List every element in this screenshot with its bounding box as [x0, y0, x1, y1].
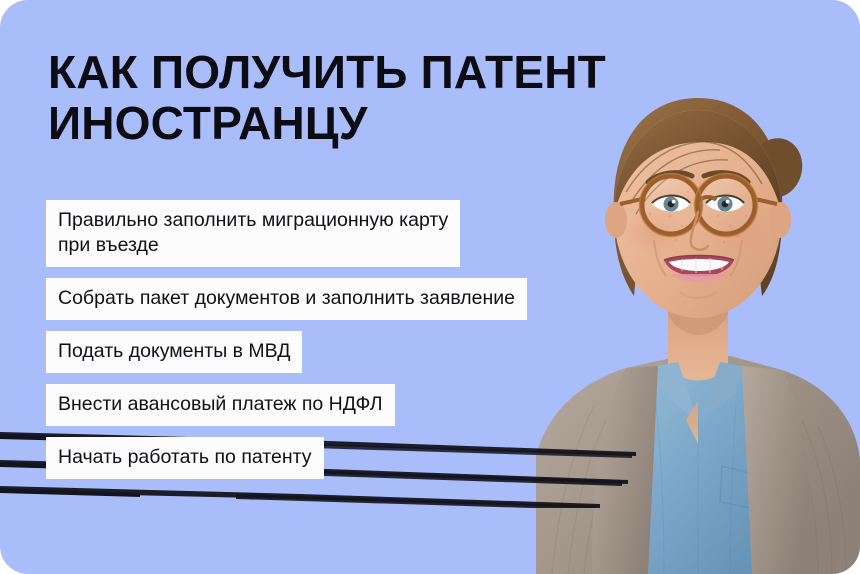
step-item-2: Собрать пакет документов и заполнить зая… — [46, 278, 527, 320]
step-item-1: Правильно заполнить миграционную карту п… — [46, 200, 460, 267]
poster-card: КАК ПОЛУЧИТЬ ПАТЕНТ ИНОСТРАНЦУ Правильно… — [0, 0, 860, 574]
steps-list: Правильно заполнить миграционную карту п… — [46, 200, 527, 479]
page-title: КАК ПОЛУЧИТЬ ПАТЕНТ ИНОСТРАНЦУ — [48, 47, 648, 149]
step-item-5: Начать работать по патенту — [46, 437, 324, 479]
step-item-3: Подать документы в МВД — [46, 331, 302, 373]
step-1-line-1: Правильно заполнить миграционную карту — [58, 208, 448, 233]
step-1-line-2: при въезде — [58, 233, 448, 258]
step-5-line-1: Начать работать по патенту — [58, 445, 312, 470]
title-line-2: ИНОСТРАНЦУ — [48, 98, 648, 149]
step-4-line-1: Внести авансовый платеж по НДФЛ — [58, 392, 383, 417]
step-3-line-1: Подать документы в МВД — [58, 339, 290, 364]
title-line-1: КАК ПОЛУЧИТЬ ПАТЕНТ — [48, 47, 648, 98]
step-item-4: Внести авансовый платеж по НДФЛ — [46, 384, 395, 426]
step-2-line-1: Собрать пакет документов и заполнить зая… — [58, 286, 515, 311]
